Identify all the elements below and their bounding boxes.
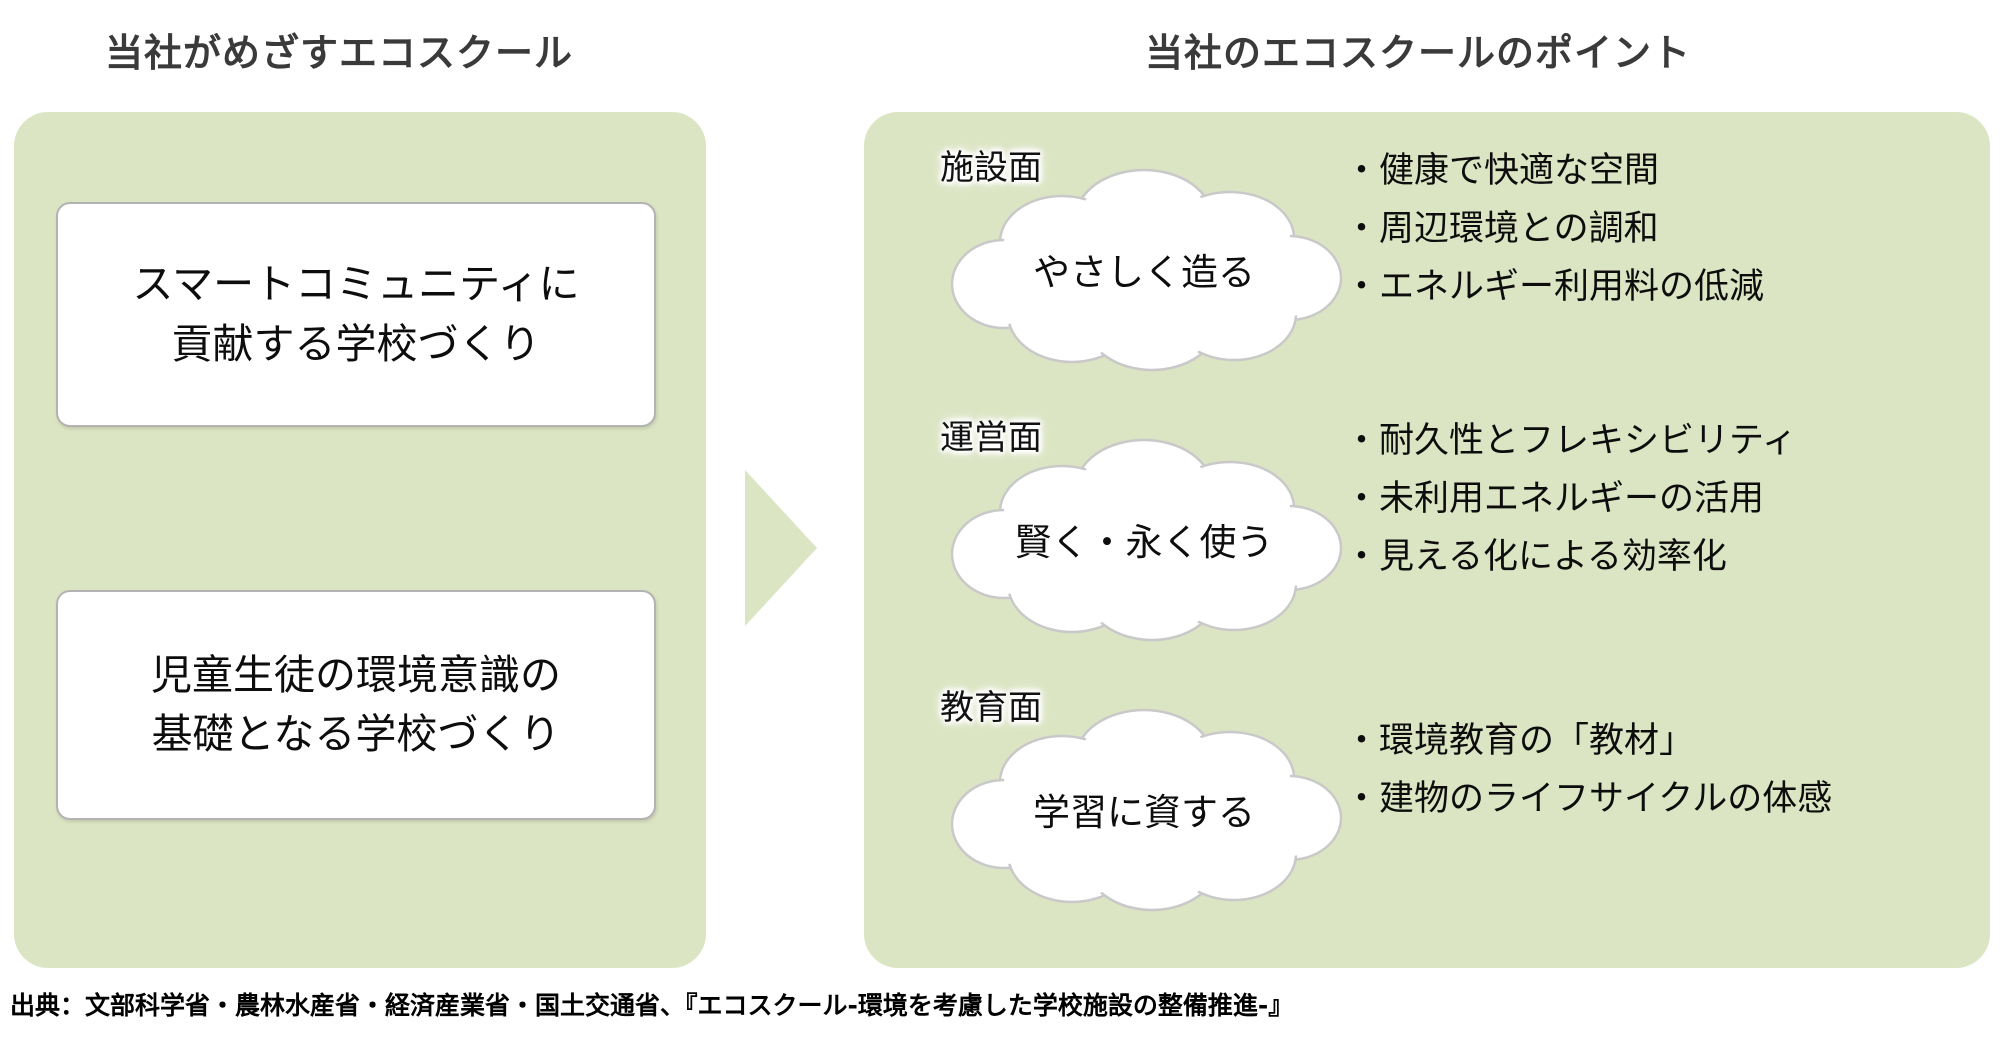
list-item: ・耐久性とフレキシビリティ bbox=[1344, 412, 1964, 470]
point-row: やさしく造る 施設面 ・健康で快適な空間 ・周辺環境との調和 ・エネルギー利用料… bbox=[944, 128, 1984, 378]
list-item: ・エネルギー利用料の低減 bbox=[1344, 258, 1964, 316]
right-arrow-icon bbox=[745, 470, 817, 626]
goal-card: 児童生徒の環境意識の 基礎となる学校づくり bbox=[56, 590, 656, 820]
bullet-list: ・環境教育の「教材」 ・建物のライフサイクルの体感 bbox=[1344, 712, 1964, 828]
list-item: ・周辺環境との調和 bbox=[1344, 200, 1964, 258]
list-item: ・健康で快適な空間 bbox=[1344, 142, 1964, 200]
bullet-list: ・健康で快適な空間 ・周辺環境との調和 ・エネルギー利用料の低減 bbox=[1344, 142, 1964, 316]
aspect-label: 運営面 bbox=[940, 410, 1042, 459]
goal-card-line-2: 貢献する学校づくり bbox=[172, 315, 541, 374]
aspect-label: 施設面 bbox=[940, 140, 1042, 189]
source-note: 出典：文部科学省・農林水産省・経済産業省・国土交通省、『エコスクール-環境を考慮… bbox=[10, 986, 1293, 1022]
page-title-right: 当社のエコスクールのポイント bbox=[1145, 22, 1691, 77]
goal-card-line-2: 基礎となる学校づくり bbox=[152, 705, 561, 764]
list-item: ・未利用エネルギーの活用 bbox=[1344, 470, 1964, 528]
page-title-left: 当社がめざすエコスクール bbox=[105, 22, 573, 77]
aspect-label: 教育面 bbox=[940, 680, 1042, 729]
goal-card-line-1: 児童生徒の環境意識の bbox=[151, 646, 561, 705]
point-row: 賢く・永く使う 運営面 ・耐久性とフレキシビリティ ・未利用エネルギーの活用 ・… bbox=[944, 398, 1984, 648]
list-item: ・建物のライフサイクルの体感 bbox=[1344, 770, 1964, 828]
point-row: 学習に資する 教育面 ・環境教育の「教材」 ・建物のライフサイクルの体感 bbox=[944, 668, 1984, 918]
goal-card-line-1: スマートコミュニティに bbox=[132, 255, 579, 314]
goal-card: スマートコミュニティに 貢献する学校づくり bbox=[56, 202, 656, 427]
list-item: ・環境教育の「教材」 bbox=[1344, 712, 1964, 770]
bullet-list: ・耐久性とフレキシビリティ ・未利用エネルギーの活用 ・見える化による効率化 bbox=[1344, 412, 1964, 586]
list-item: ・見える化による効率化 bbox=[1344, 528, 1964, 586]
